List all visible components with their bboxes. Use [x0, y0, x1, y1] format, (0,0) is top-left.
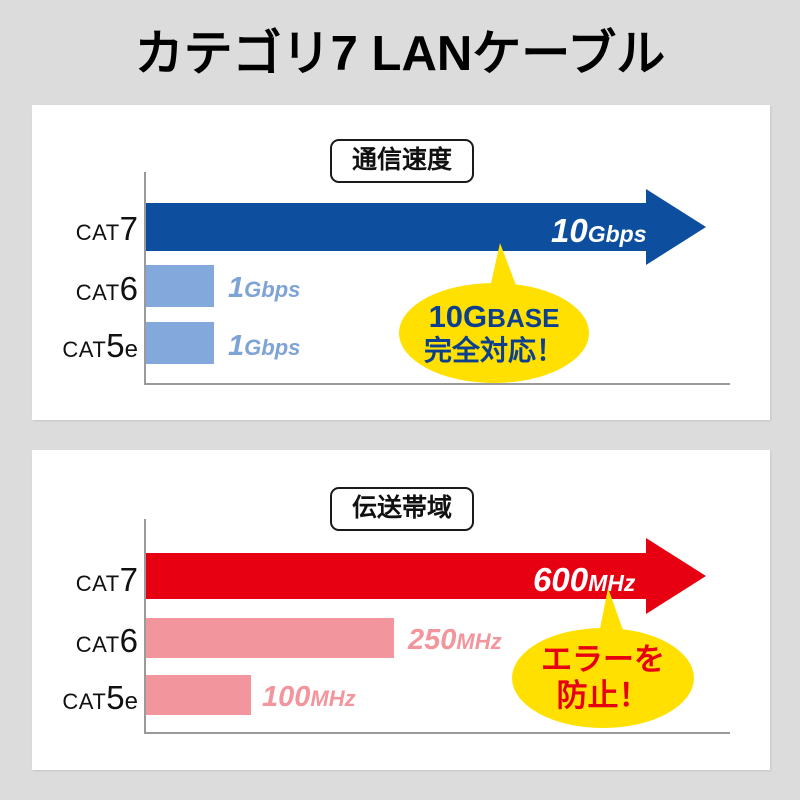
cat-suffix: e	[125, 688, 138, 715]
arrow-head-icon-bandwidth	[646, 538, 706, 614]
cat-word: CAT	[76, 220, 120, 245]
bubble-line-2: 完全対応！	[424, 336, 564, 365]
bar-cat6-speed	[146, 265, 214, 307]
cat-number: 7	[120, 561, 138, 598]
cat-suffix: e	[125, 336, 138, 363]
bubble-line-2: 防止！	[557, 680, 650, 713]
bar-cat6-bandwidth	[146, 618, 394, 658]
value-unit: Gbps	[244, 335, 300, 360]
section-header-speed: 通信速度	[330, 139, 474, 183]
value-number: 600	[533, 561, 588, 598]
cat-number: 6	[120, 270, 138, 307]
value-number: 1	[228, 330, 244, 362]
value-unit: Gbps	[244, 277, 300, 302]
cat-word: CAT	[76, 280, 120, 305]
cat-word: CAT	[76, 632, 120, 657]
category-label-cat6-bandwidth: CAT6	[48, 622, 138, 660]
bar-value-cat6-bandwidth: 250MHz	[408, 626, 502, 655]
arrow-head-icon-speed	[646, 189, 706, 265]
bar-value-cat6-speed: 1Gbps	[228, 274, 300, 303]
value-number: 250	[408, 624, 456, 656]
section-header-bandwidth: 伝送帯域	[330, 487, 474, 531]
value-number: 10	[551, 212, 588, 249]
callout-bubble-10gbase: 10GBASE 完全対応！	[399, 283, 589, 383]
bar-cat5e-bandwidth	[146, 675, 251, 715]
bubble-text-small: BASE	[487, 303, 559, 333]
bubble-line-1: エラーを	[541, 644, 665, 677]
value-unit: MHz	[310, 686, 355, 711]
category-label-cat6-speed: CAT6	[48, 270, 138, 308]
callout-bubble-error: エラーを 防止！	[512, 628, 694, 728]
bubble-line-1: 10GBASE	[429, 301, 560, 334]
x-axis-line-bandwidth	[144, 732, 730, 734]
bar-value-cat7-speed: 10Gbps	[551, 214, 647, 247]
cat-number: 5	[106, 679, 124, 716]
bar-cat5e-speed	[146, 322, 214, 364]
category-label-cat7-speed: CAT7	[48, 210, 138, 248]
cat-word: CAT	[62, 689, 106, 714]
value-number: 1	[228, 272, 244, 304]
category-label-cat5e-bandwidth: CAT5e	[48, 679, 138, 717]
value-unit: Gbps	[588, 221, 647, 247]
category-label-cat5e-speed: CAT5e	[48, 327, 138, 365]
cat-number: 5	[106, 327, 124, 364]
cat-word: CAT	[62, 337, 106, 362]
cat-number: 6	[120, 622, 138, 659]
x-axis-line-speed	[144, 383, 730, 385]
category-label-cat7-bandwidth: CAT7	[48, 561, 138, 599]
page-title: カテゴリ7 LANケーブル	[0, 24, 800, 84]
value-number: 100	[262, 681, 310, 713]
bar-value-cat5e-speed: 1Gbps	[228, 332, 300, 361]
cat-word: CAT	[76, 571, 120, 596]
value-unit: MHz	[456, 629, 501, 654]
bar-value-cat5e-bandwidth: 100MHz	[262, 683, 356, 712]
bubble-text-big: 10G	[429, 299, 488, 334]
cat-number: 7	[120, 210, 138, 247]
